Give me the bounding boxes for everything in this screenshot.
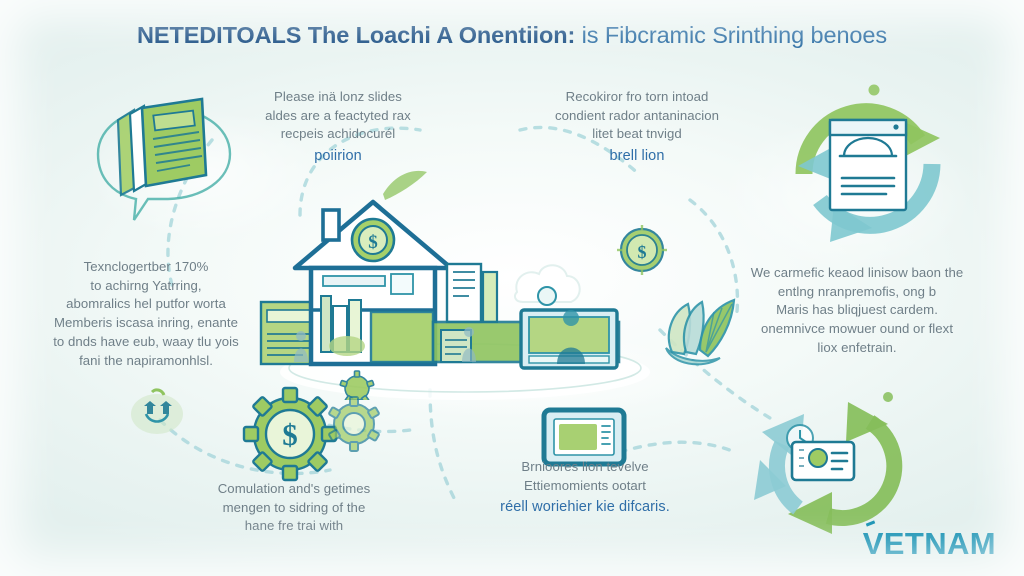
svg-text:$: $: [368, 232, 378, 253]
handshake-money-icon: [122, 386, 192, 448]
text-line: litet beat tnvigd: [512, 125, 762, 144]
text-block-left: Texnclogertber 170% to achirng Yatrring,…: [22, 258, 270, 370]
page-title-light: is Fibcramic Srinthing benoes: [582, 22, 887, 48]
house-illustration: $: [255, 150, 675, 400]
text-line: recpeis achidocurél: [218, 125, 458, 144]
text-line: to dnds have eub, waay tlu yois: [22, 333, 270, 352]
document-recycle-cycle-icon: [768, 78, 968, 246]
brand-logo-rest: ETNAM: [884, 526, 996, 561]
text-line: onemnivce mowuer ound or flext: [730, 320, 984, 339]
page-title-strong: NETEDITOALS The Loachi A Onentiion:: [137, 22, 575, 48]
text-line: liox enfetrain.: [730, 339, 984, 358]
text-block-top-left: Please inä lonz slides aldes are a feact…: [218, 88, 458, 167]
brand-logo: VETNAM: [863, 526, 996, 562]
text-line: entlng nranpremofis, ong b: [730, 283, 984, 302]
text-line: abomralics hel putfor worta: [22, 295, 270, 314]
infographic-canvas: NETEDITOALS The Loachi A Onentiion: is F…: [0, 0, 1024, 576]
page-title: NETEDITOALS The Loachi A Onentiion: is F…: [0, 22, 1024, 49]
text-line: Comulation and's getimes: [168, 480, 420, 499]
text-highlight: brell lion: [512, 146, 762, 167]
text-block-bottom-left: Comulation and's getimes mengen to sidri…: [168, 480, 420, 536]
text-block-top-right: Recokiror fro torn intoad condient rador…: [512, 88, 762, 167]
text-line: Please inä lonz slides: [218, 88, 458, 107]
text-line: Texnclogertber 170%: [22, 258, 270, 277]
coin-dollar-icon: $: [614, 222, 670, 278]
text-line: Brnioores lion tevelve: [458, 458, 712, 477]
text-line: to achirng Yatrring,: [22, 277, 270, 296]
text-highlight: réell woriehier kie difcaris.: [458, 497, 712, 518]
text-highlight: poiirion: [218, 146, 458, 167]
text-line: Ettiemomients ootart: [458, 477, 712, 496]
id-card-recycle-cycle-icon: [752, 392, 942, 544]
text-line: We carmefic keaod linisow baon the: [730, 264, 984, 283]
text-line: mengen to sidring of the: [168, 499, 420, 518]
brand-logo-prefix: V: [863, 526, 884, 561]
svg-text:$: $: [282, 417, 298, 452]
gear-secondary-icon: [322, 392, 386, 456]
text-line: Maris has bliqjuest cardem.: [730, 301, 984, 320]
text-line: Memberis iscasa inring, enante: [22, 314, 270, 333]
text-line: condient rador antaninacion: [512, 107, 762, 126]
svg-text:$: $: [638, 242, 647, 262]
text-block-bottom-center: Brnioores lion tevelve Ettiemomients oot…: [458, 458, 712, 518]
text-line: hane fre trai with: [168, 517, 420, 536]
text-line: fani the napiramonhlsl.: [22, 352, 270, 371]
text-line: Recokiror fro torn intoad: [512, 88, 762, 107]
text-line: aldes are a feactyted rax: [218, 107, 458, 126]
text-block-right: We carmefic keaod linisow baon the entln…: [730, 264, 984, 358]
